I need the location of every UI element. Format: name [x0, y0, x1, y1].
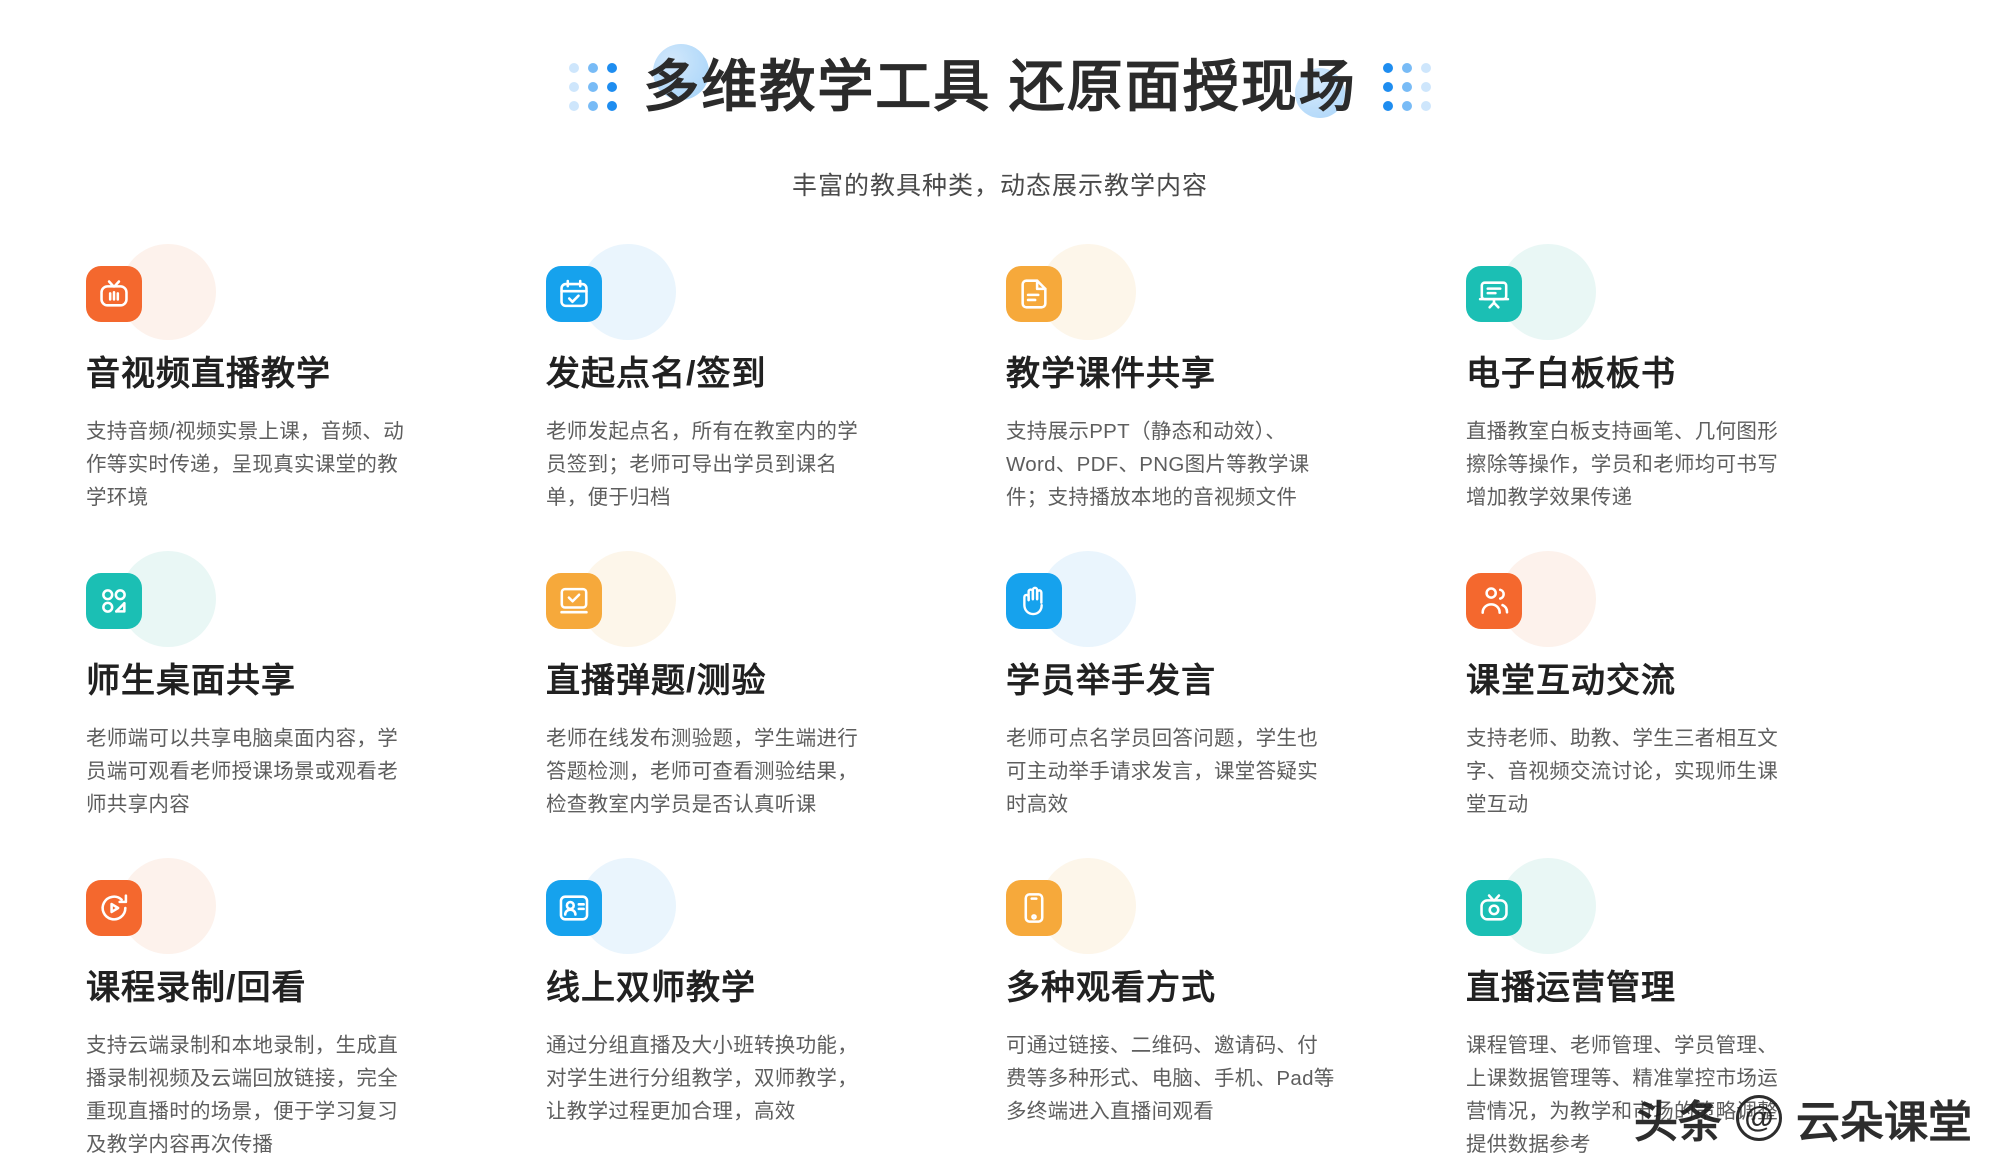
at-symbol-icon: @ — [1736, 1095, 1782, 1141]
group-users-icon — [1466, 573, 1522, 629]
feature-card[interactable]: 发起点名/签到老师发起点名，所有在教室内的学员签到；老师可导出学员到课名单，便于… — [546, 252, 916, 559]
feature-title: 课程录制/回看 — [86, 968, 456, 1009]
title-row: 多维教学工具 还原面授现场 — [569, 42, 1431, 132]
feature-title: 电子白板板书 — [1466, 354, 1836, 395]
feature-title: 直播运营管理 — [1466, 968, 1836, 1009]
feature-title: 教学课件共享 — [1006, 354, 1376, 395]
feature-card[interactable]: 线上双师教学通过分组直播及大小班转换功能，对学生进行分组教学，双师教学，让教学过… — [546, 866, 916, 1170]
feature-title: 音视频直播教学 — [86, 354, 456, 395]
feature-description: 老师端可以共享电脑桌面内容，学员端可观看老师授课场景或观看老师共享内容 — [86, 722, 416, 822]
screen-share-icon — [86, 573, 142, 629]
watermark-brand: 头条 — [1634, 1086, 1722, 1150]
calendar-check-icon — [546, 266, 602, 322]
feature-title: 线上双师教学 — [546, 968, 916, 1009]
feature-description: 老师发起点名，所有在教室内的学员签到；老师可导出学员到课名单，便于归档 — [546, 415, 876, 515]
feature-icon-wrap — [1466, 573, 1586, 649]
feature-title: 学员举手发言 — [1006, 661, 1376, 702]
replay-record-icon — [86, 880, 142, 936]
feature-icon-wrap — [1006, 573, 1126, 649]
tv-live-icon — [86, 266, 142, 322]
feature-description: 可通过链接、二维码、邀请码、付费等多种形式、电脑、手机、Pad等多终端进入直播间… — [1006, 1029, 1336, 1129]
feature-description: 支持云端录制和本地录制，生成直播录制视频及云端回放链接，完全重现直播时的场景，便… — [86, 1029, 416, 1162]
feature-icon-wrap — [1466, 880, 1586, 956]
feature-description: 通过分组直播及大小班转换功能，对学生进行分组教学，双师教学，让教学过程更加合理，… — [546, 1029, 876, 1129]
feature-card[interactable]: 课程录制/回看支持云端录制和本地录制，生成直播录制视频及云端回放链接，完全重现直… — [86, 866, 456, 1170]
feature-icon-wrap — [546, 573, 666, 649]
watermark-account: 云朵课堂 — [1796, 1086, 1972, 1150]
feature-icon-wrap — [1466, 266, 1586, 342]
feature-title: 发起点名/签到 — [546, 354, 916, 395]
dot-grid-left-icon — [569, 63, 617, 111]
page-title: 多维教学工具 还原面授现场 — [643, 59, 1357, 115]
feature-description: 直播教室白板支持画笔、几何图形擦除等操作，学员和老师均可书写增加教学效果传递 — [1466, 415, 1796, 515]
page-header: 多维教学工具 还原面授现场 丰富的教具种类，动态展示教学内容 — [0, 0, 2000, 202]
feature-icon-wrap — [86, 573, 206, 649]
feature-grid: 音视频直播教学支持音频/视频实景上课，音频、动作等实时传递，呈现真实课堂的教学环… — [86, 252, 1926, 1170]
feature-card[interactable]: 音视频直播教学支持音频/视频实景上课，音频、动作等实时传递，呈现真实课堂的教学环… — [86, 252, 456, 559]
feature-showcase-page: 多维教学工具 还原面授现场 丰富的教具种类，动态展示教学内容 音视频直播教学支持… — [0, 0, 2000, 1170]
raise-hand-icon — [1006, 573, 1062, 629]
dual-teacher-icon — [546, 880, 602, 936]
feature-card[interactable]: 电子白板板书直播教室白板支持画笔、几何图形擦除等操作，学员和老师均可书写增加教学… — [1466, 252, 1836, 559]
feature-icon-wrap — [86, 880, 206, 956]
whiteboard-icon — [1466, 266, 1522, 322]
feature-icon-wrap — [86, 266, 206, 342]
feature-icon-wrap — [1006, 880, 1126, 956]
watermark: 头条 @ 云朵课堂 — [1634, 1086, 1972, 1150]
broadcast-manage-icon — [1466, 880, 1522, 936]
feature-title: 直播弹题/测验 — [546, 661, 916, 702]
feature-card[interactable]: 直播弹题/测验老师在线发布测验题，学生端进行答题检测，老师可查看测验结果，检查教… — [546, 559, 916, 866]
feature-icon-wrap — [546, 266, 666, 342]
feature-card[interactable]: 多种观看方式可通过链接、二维码、邀请码、付费等多种形式、电脑、手机、Pad等多终… — [1006, 866, 1376, 1170]
feature-title: 师生桌面共享 — [86, 661, 456, 702]
feature-icon-wrap — [1006, 266, 1126, 342]
feature-title: 多种观看方式 — [1006, 968, 1376, 1009]
dot-grid-right-icon — [1383, 63, 1431, 111]
document-icon — [1006, 266, 1062, 322]
feature-title: 课堂互动交流 — [1466, 661, 1836, 702]
feature-card[interactable]: 师生桌面共享老师端可以共享电脑桌面内容，学员端可观看老师授课场景或观看老师共享内… — [86, 559, 456, 866]
feature-description: 老师可点名学员回答问题，学生也可主动举手请求发言，课堂答疑实时高效 — [1006, 722, 1336, 822]
quiz-check-icon — [546, 573, 602, 629]
feature-description: 老师在线发布测验题，学生端进行答题检测，老师可查看测验结果，检查教室内学员是否认… — [546, 722, 876, 822]
mobile-device-icon — [1006, 880, 1062, 936]
feature-description: 支持音频/视频实景上课，音频、动作等实时传递，呈现真实课堂的教学环境 — [86, 415, 416, 515]
feature-card[interactable]: 学员举手发言老师可点名学员回答问题，学生也可主动举手请求发言，课堂答疑实时高效 — [1006, 559, 1376, 866]
feature-card[interactable]: 教学课件共享支持展示PPT（静态和动效）、Word、PDF、PNG图片等教学课件… — [1006, 252, 1376, 559]
feature-description: 支持老师、助教、学生三者相互文字、音视频交流讨论，实现师生课堂互动 — [1466, 722, 1796, 822]
feature-card[interactable]: 课堂互动交流支持老师、助教、学生三者相互文字、音视频交流讨论，实现师生课堂互动 — [1466, 559, 1836, 866]
feature-icon-wrap — [546, 880, 666, 956]
feature-description: 支持展示PPT（静态和动效）、Word、PDF、PNG图片等教学课件；支持播放本… — [1006, 415, 1336, 515]
page-subtitle: 丰富的教具种类，动态展示教学内容 — [0, 166, 2000, 202]
